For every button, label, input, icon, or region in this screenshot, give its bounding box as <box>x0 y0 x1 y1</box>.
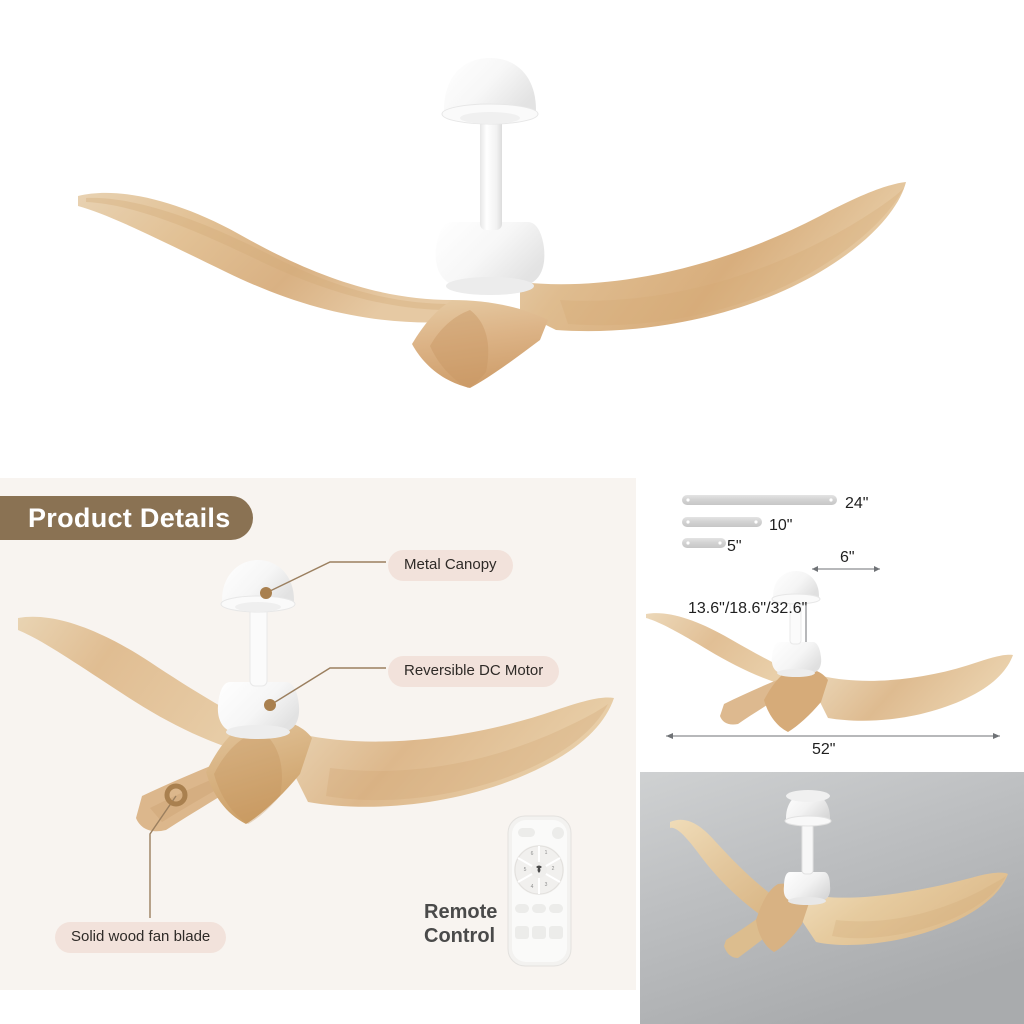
svg-text:6: 6 <box>531 851 534 857</box>
photo-downrod <box>802 824 813 874</box>
detail-downrod <box>250 606 267 686</box>
remote-control-label-line2: Control <box>424 924 497 948</box>
anchor-dot-motor <box>264 699 276 711</box>
remote-power-button <box>518 828 535 837</box>
blade-span-label: 52" <box>812 741 835 759</box>
dim-blade-span <box>666 733 1000 739</box>
svg-text:2: 2 <box>552 866 555 872</box>
mini-motor-housing <box>772 642 821 673</box>
svg-text:4: 4 <box>531 884 534 890</box>
downrod-24-label: 24" <box>845 495 868 513</box>
lifestyle-fan-illustration <box>640 772 1024 1024</box>
photo-motor-housing <box>784 872 830 901</box>
hero-downrod <box>480 118 502 230</box>
product-detail-page: Product Details <box>0 0 1024 1024</box>
remote-button-row-1 <box>515 904 563 913</box>
anchor-dot-canopy <box>260 587 272 599</box>
lifestyle-photo-panel <box>640 772 1024 1024</box>
callout-solid-wood-fan-blade: Solid wood fan blade <box>55 922 226 953</box>
svg-text:3: 3 <box>545 882 548 888</box>
downrod-24 <box>682 495 837 505</box>
details-fan-illustration: 1 2 3 4 5 6 <box>0 478 636 990</box>
downrod-10 <box>682 517 762 527</box>
downrod-5 <box>682 538 726 548</box>
hero-motor-housing <box>436 222 545 286</box>
remote-control-label: Remote Control <box>424 900 497 949</box>
remote-control-label-line1: Remote <box>424 900 497 924</box>
downrod-10-label: 10" <box>769 517 792 535</box>
hero-fan-illustration <box>0 0 1024 470</box>
dimension-diagram <box>640 478 1024 768</box>
remote-control-illustration: 1 2 3 4 5 6 <box>508 816 571 966</box>
canopy-width-label: 6" <box>840 549 855 567</box>
mini-blade-right <box>818 655 1013 721</box>
callout-reversible-dc-motor: Reversible DC Motor <box>388 656 559 687</box>
hero-section <box>0 0 1024 470</box>
callout-metal-canopy: Metal Canopy <box>388 550 513 581</box>
product-details-panel: Product Details <box>0 478 636 990</box>
remote-button-row-2 <box>515 926 563 939</box>
remote-light-button <box>552 827 564 839</box>
downrod-5-label: 5" <box>727 538 742 556</box>
total-height-label: 13.6"/18.6"/32.6" <box>688 600 807 618</box>
detail-motor-housing <box>218 682 299 732</box>
svg-text:5: 5 <box>524 867 527 873</box>
dimension-panel <box>640 478 1024 768</box>
svg-text:1: 1 <box>545 850 548 856</box>
